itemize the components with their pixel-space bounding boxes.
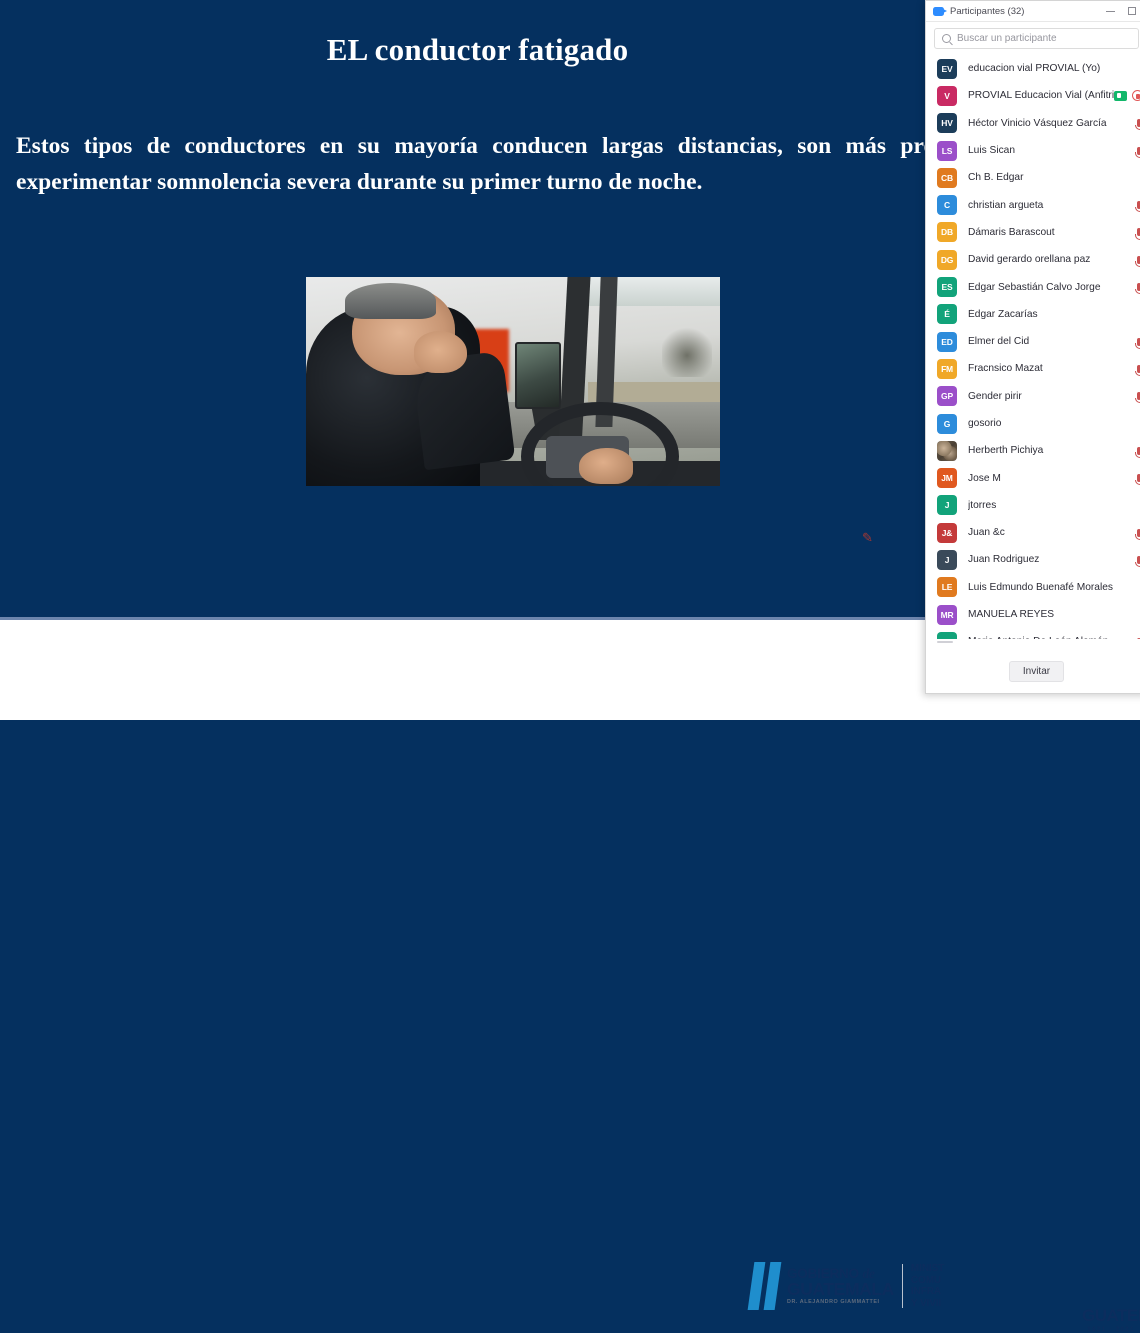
participant-avatar: DB [937,222,957,242]
maximize-button[interactable] [1121,2,1140,21]
logo-president-text: DR. ALEJANDRO GIAMMATTEI [787,1300,894,1306]
participant-name: Fracnsico Mazat [968,363,1137,374]
participant-row[interactable]: VPROVIAL Educacion Vial (Anfitrión) [926,82,1140,109]
participant-name: Héctor Vinicio Vásquez García [968,118,1137,129]
participant-avatar: V [937,86,957,106]
participant-row[interactable]: Ggosorio [926,410,1140,437]
participant-row[interactable]: LELuis Edmundo Buenafé Morales [926,574,1140,601]
minimize-button[interactable] [1099,2,1121,21]
participant-row[interactable]: DGDavid gerardo orellana paz [926,246,1140,273]
participant-name: Juan &c [968,527,1137,538]
participant-avatar: LE [937,577,957,597]
participant-name: Juan Rodriguez [968,554,1137,565]
participant-row[interactable]: ESEdgar Sebastián Calvo Jorge [926,273,1140,300]
participant-avatar: MR [937,605,957,625]
participant-row[interactable]: CBCh B. Edgar [926,164,1140,191]
slide-title: EL conductor fatigado [0,32,955,68]
annotation-pointer-icon: ✎ [862,531,874,545]
panel-title: Participantes (32) [950,6,1099,17]
search-icon [942,34,951,43]
participant-row[interactable]: ÉÉdgar Zacarías [926,301,1140,328]
participant-name: Luis Edmundo Buenafé Morales [968,582,1140,593]
invite-button[interactable]: Invitar [1009,661,1064,682]
participant-row[interactable]: MRMANUELA REYES [926,601,1140,628]
participant-avatar: GP [937,386,957,406]
participant-avatar: MA [937,632,957,639]
panel-titlebar[interactable]: Participantes (32) [926,1,1140,22]
search-input[interactable] [957,33,1131,44]
participant-avatar: JM [937,468,957,488]
participant-status-icons [1114,90,1140,101]
participant-avatar: ED [937,332,957,352]
participant-row[interactable]: FMFracnsico Mazat [926,355,1140,382]
participant-name: educacion vial PROVIAL (Yo) [968,63,1140,74]
search-box[interactable] [934,28,1139,49]
search-row [926,22,1140,54]
slide-body-text: Estos tipos de conductores en su mayoría… [16,128,1028,200]
participant-name: jtorres [968,500,1140,511]
participant-avatar: É [937,304,957,324]
participants-panel: Participantes (32) EVeducacion vial PROV… [925,0,1140,694]
bicentennial-logo: GUATEMALA 1821 · 2021 [1082,1306,1140,1333]
participant-avatar: FM [937,359,957,379]
participant-list[interactable]: EVeducacion vial PROVIAL (Yo)VPROVIAL Ed… [926,54,1140,639]
participant-name: David gerardo orellana paz [968,254,1137,265]
participant-row[interactable]: Cchristian argueta [926,191,1140,218]
participant-avatar: J [937,550,957,570]
participant-row[interactable]: J&Juan &c [926,519,1140,546]
participant-row[interactable]: EVeducacion vial PROVIAL (Yo) [926,55,1140,82]
participant-avatar: LS [937,141,957,161]
participant-row[interactable]: JJuan Rodriguez [926,546,1140,573]
slide-photo-tired-driver [306,277,720,486]
participant-avatar: EV [937,59,957,79]
participant-avatar: G [937,414,957,434]
participant-avatar: C [937,195,957,215]
participant-row[interactable]: HVHéctor Vinicio Vásquez García [926,110,1140,137]
participant-row[interactable]: MAMario Antonio De León Alemán [926,628,1140,639]
participant-name: Edgar Sebastián Calvo Jorge [968,282,1137,293]
participant-row[interactable]: LSLuis Sican [926,137,1140,164]
logo-gobierno-text: GOBIERNO [787,1266,859,1281]
list-scroll-indicator [926,639,1140,649]
participant-name: PROVIAL Educacion Vial (Anfitrión) [968,90,1114,101]
logo-de-text: de [862,1266,874,1281]
participant-name: Dámaris Barascout [968,227,1137,238]
participant-name: Édgar Zacarías [968,309,1140,320]
zoom-logo-icon [933,7,944,16]
participant-row[interactable]: Herberth Pichiya [926,437,1140,464]
participant-name: MANUELA REYES [968,609,1140,620]
participant-name: Elmer del Cid [968,336,1137,347]
participant-avatar: ES [937,277,957,297]
participant-row[interactable]: GPGender pirir [926,383,1140,410]
ministry-text: MINIST COMU INFRA Y VIVII [911,1263,955,1309]
participant-name: Luis Sican [968,145,1137,156]
logo-divider [902,1264,903,1308]
panel-footer: Invitar [926,649,1140,693]
participant-name: gosorio [968,418,1140,429]
participant-name: Ch B. Edgar [968,172,1140,183]
participant-avatar: J& [937,523,957,543]
participant-row[interactable]: Jjtorres [926,492,1140,519]
bicentennial-years: 1821 · 2021 [1082,1327,1140,1333]
participant-avatar: HV [937,113,957,133]
participant-avatar: J [937,495,957,515]
participant-name: christian argueta [968,200,1137,211]
video-on-icon [1114,91,1127,101]
bicentennial-title: GUATEMALA [1082,1306,1140,1326]
participant-name: Herberth Pichiya [968,445,1137,456]
gobierno-de-guatemala-logo: GOBIERNO de GUATEMALA DR. ALEJANDRO GIAM… [751,1260,955,1312]
logo-guatemala-text: GUATEMALA [787,1281,894,1299]
participant-avatar: DG [937,250,957,270]
participant-row[interactable]: JMJose M [926,464,1140,491]
recording-icon [1132,90,1140,101]
participant-avatar: CB [937,168,957,188]
participant-name: Gender pirir [968,391,1137,402]
participant-row[interactable]: DBDámaris Barascout [926,219,1140,246]
participant-row[interactable]: EDElmer del Cid [926,328,1140,355]
participant-avatar [937,441,957,461]
logo-bars-icon [751,1262,778,1310]
participant-name: Jose M [968,473,1137,484]
